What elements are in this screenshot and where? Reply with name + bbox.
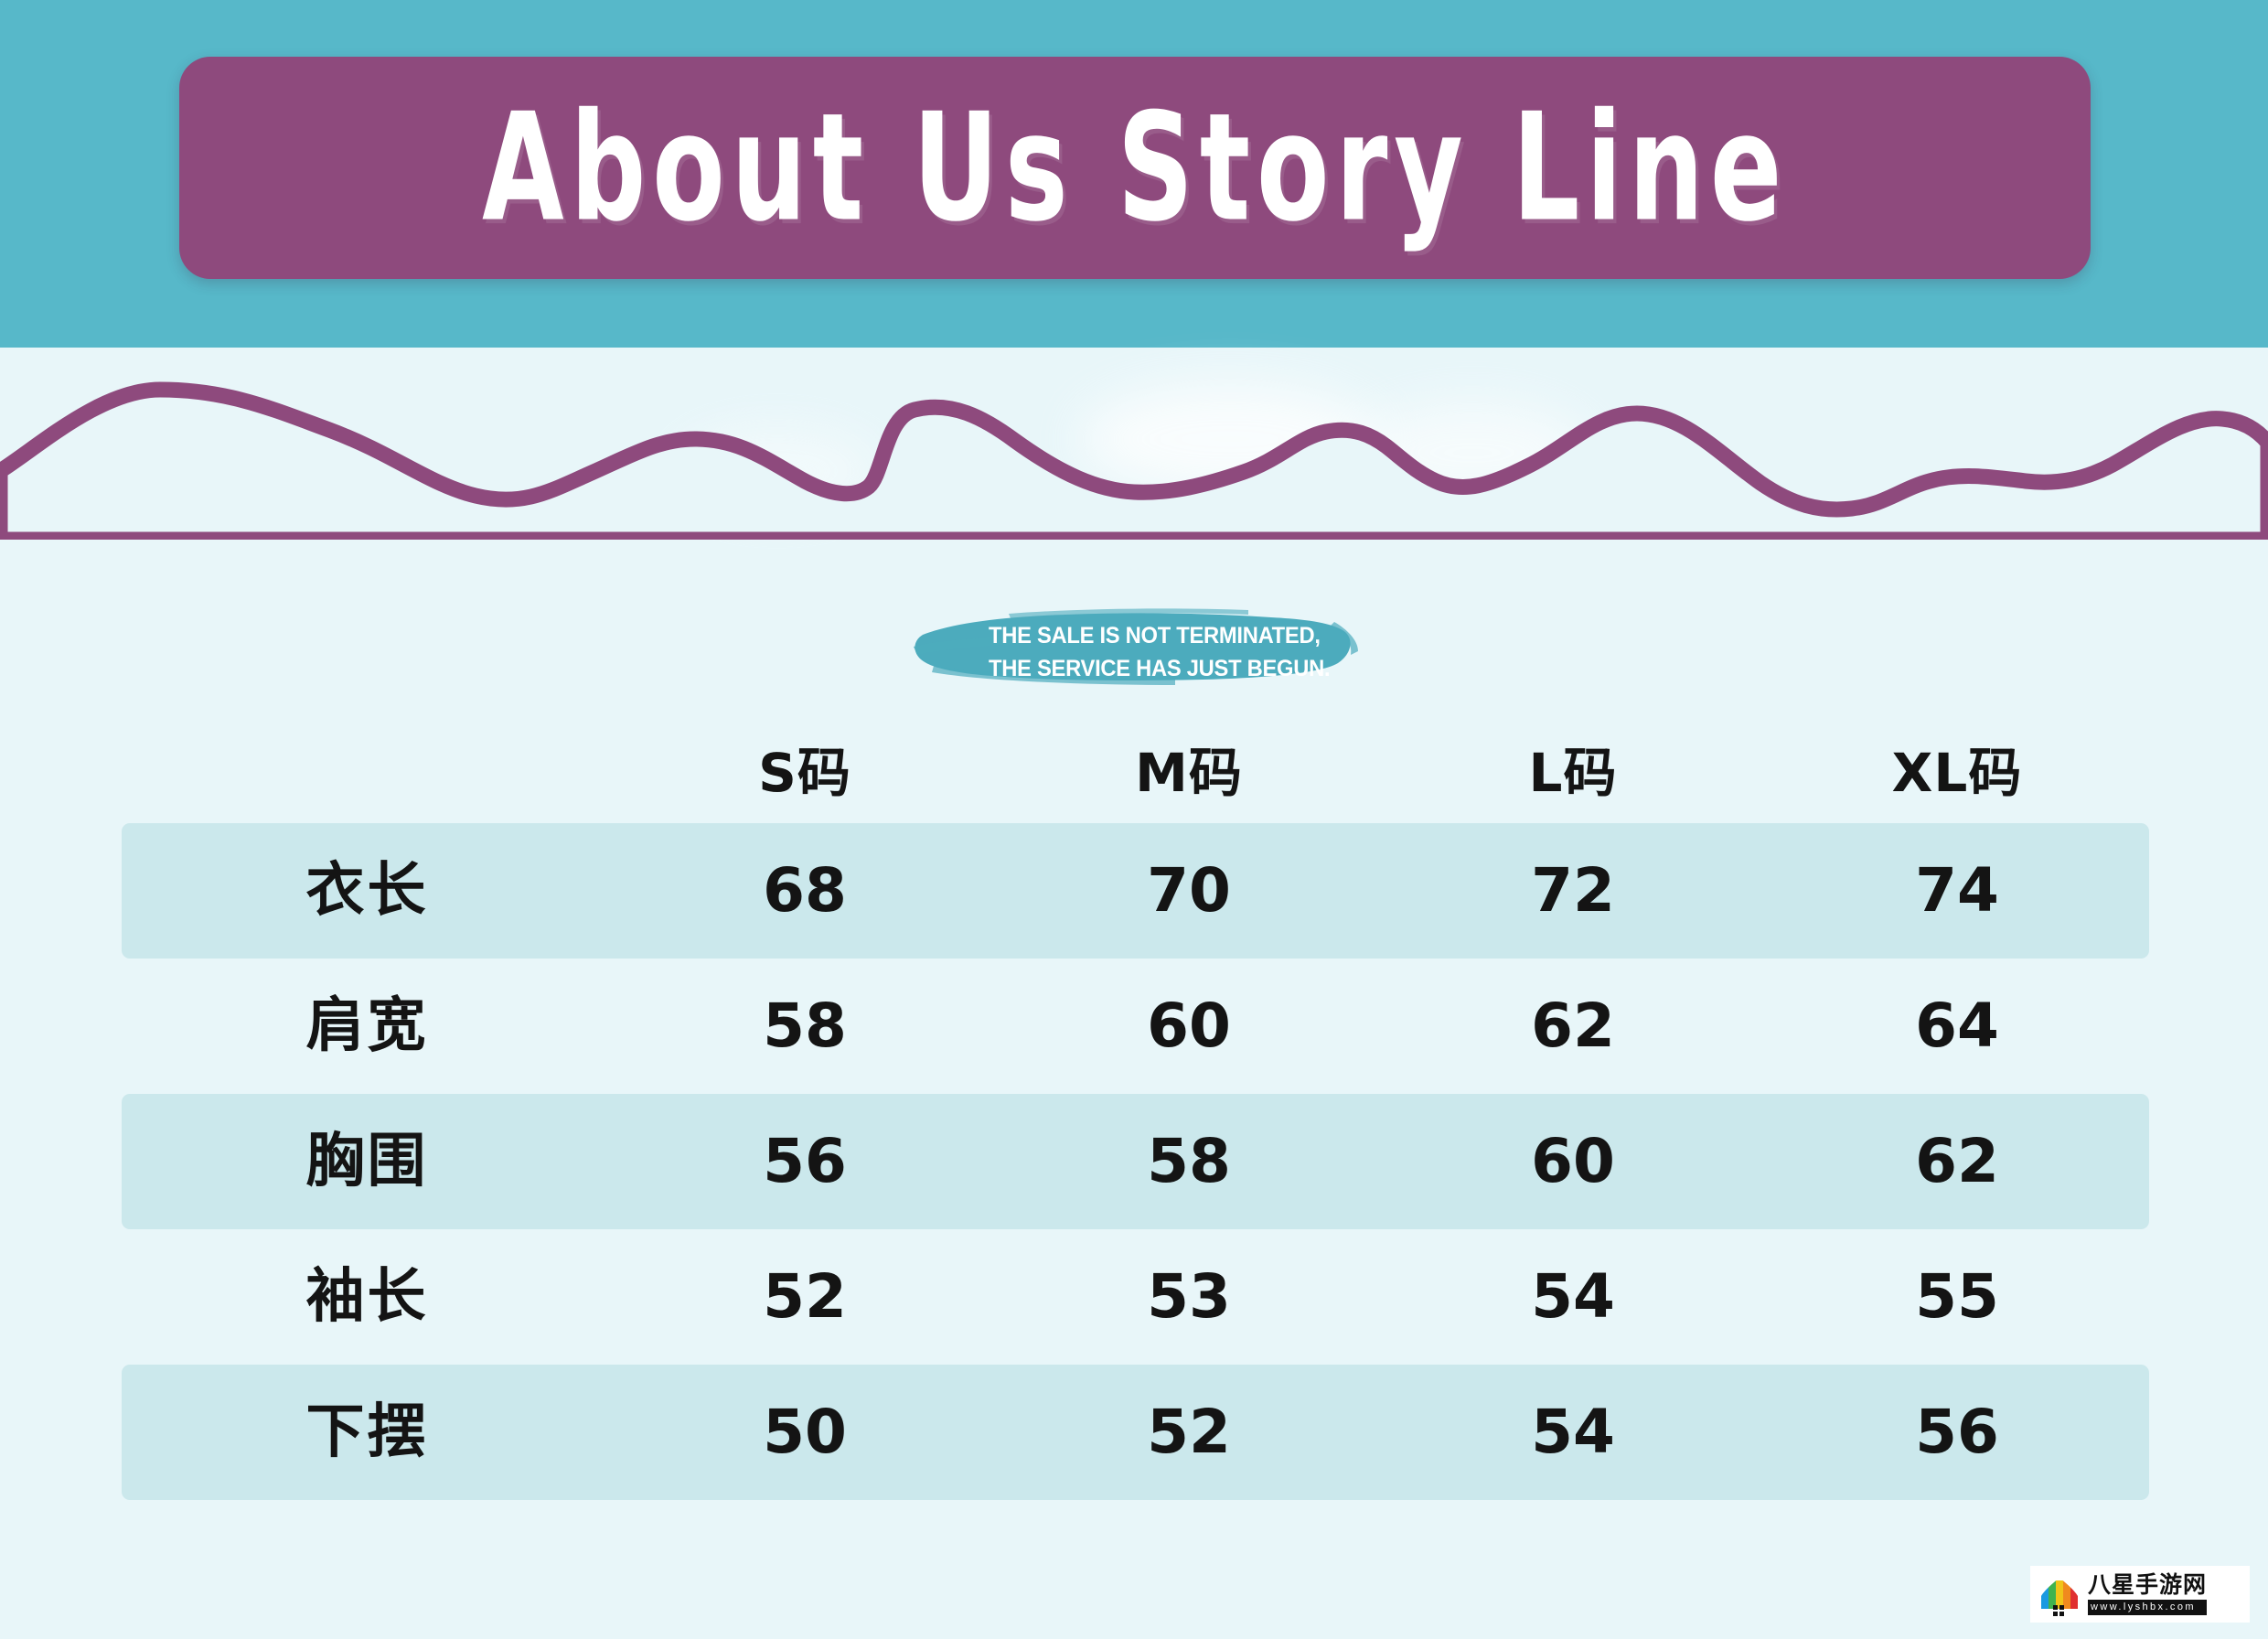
row-value: 72	[1381, 861, 1765, 921]
row-value: 58	[613, 996, 997, 1056]
watermark: 八星手游网 www.lyshbx.com	[2030, 1566, 2250, 1623]
column-header-l: L码	[1381, 746, 1765, 799]
page-title: About Us Story Line	[482, 93, 1788, 242]
row-value: 56	[613, 1131, 997, 1192]
cloud-blob	[1079, 384, 1381, 494]
row-value: 62	[1765, 1131, 2149, 1192]
row-label: 胸围	[122, 1132, 613, 1191]
brush-badge-line-2: THE SERVICE HAS JUST BEGUN.	[989, 653, 1276, 686]
brush-badge-text: THE SALE IS NOT TERMINATED, THE SERVICE …	[989, 620, 1276, 685]
table-header-row: S码 M码 L码 XL码	[122, 723, 2149, 823]
row-value: 52	[997, 1402, 1381, 1462]
row-value: 55	[1765, 1267, 2149, 1327]
row-label: 下摆	[122, 1403, 613, 1462]
column-header-m: M码	[997, 746, 1381, 799]
site-logo-icon	[2036, 1572, 2083, 1616]
row-value: 74	[1765, 861, 2149, 921]
table-row: 肩宽 58 60 62 64	[122, 959, 2149, 1094]
row-value: 70	[997, 861, 1381, 921]
row-value: 60	[1381, 1131, 1765, 1192]
row-label: 肩宽	[122, 997, 613, 1055]
column-header-xl: XL码	[1765, 746, 2149, 799]
column-header-s: S码	[613, 746, 997, 799]
watermark-site-name: 八星手游网	[2088, 1573, 2207, 1597]
table-row: 胸围 56 58 60 62	[122, 1094, 2149, 1229]
row-value: 60	[997, 996, 1381, 1056]
row-value: 62	[1381, 996, 1765, 1056]
watermark-text-block: 八星手游网 www.lyshbx.com	[2088, 1573, 2207, 1614]
cloud-blob	[1353, 402, 1591, 503]
brush-badge: THE SALE IS NOT TERMINATED, THE SERVICE …	[901, 595, 1367, 693]
row-value: 50	[613, 1402, 997, 1462]
size-table: S码 M码 L码 XL码 衣长 68 70 72 74 肩宽 58 60 62 …	[122, 723, 2149, 1500]
row-label: 衣长	[122, 862, 613, 920]
row-value: 53	[997, 1267, 1381, 1327]
row-label: 袖长	[122, 1268, 613, 1326]
table-row: 下摆 50 52 54 56	[122, 1365, 2149, 1500]
table-row: 衣长 68 70 72 74	[122, 823, 2149, 959]
poster-canvas: About Us Story Line THE SALE IS NOT TERM…	[0, 0, 2268, 1639]
row-value: 58	[997, 1131, 1381, 1192]
row-value: 52	[613, 1267, 997, 1327]
row-value: 56	[1765, 1402, 2149, 1462]
row-value: 64	[1765, 996, 2149, 1056]
watermark-url: www.lyshbx.com	[2088, 1600, 2207, 1615]
row-value: 68	[613, 861, 997, 921]
table-row: 袖长 52 53 54 55	[122, 1229, 2149, 1365]
title-banner: About Us Story Line	[179, 57, 2091, 279]
row-value: 54	[1381, 1402, 1765, 1462]
cloud-blob	[677, 430, 878, 512]
row-value: 54	[1381, 1267, 1765, 1327]
brush-badge-line-1: THE SALE IS NOT TERMINATED,	[989, 620, 1276, 653]
